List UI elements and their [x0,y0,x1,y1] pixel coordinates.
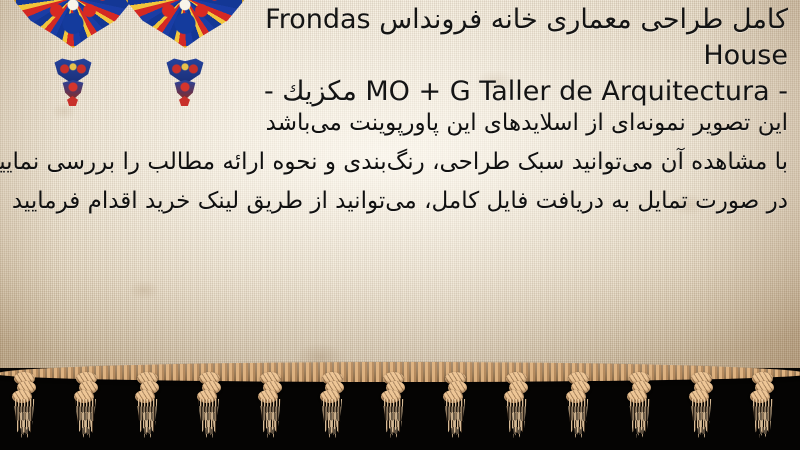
tassel [193,372,227,450]
tassel [377,372,411,450]
slide-canvas: کامل طراحی معماری خانه فرونداس Frondas H… [0,0,800,450]
tassel [685,372,719,450]
tassel [8,372,42,450]
slide-title: کامل طراحی معماری خانه فرونداس Frondas H… [188,2,788,110]
slide-body: این تصویر نمونه‌ای از اسلایدهای این پاور… [6,104,788,221]
slide-body-line-1: این تصویر نمونه‌ای از اسلایدهای این پاور… [6,104,788,143]
tassel [254,372,288,450]
tassel [623,372,657,450]
slide-body-line-3: در صورت تمایل به دریافت فایل کامل، می‌تو… [6,182,788,221]
tassel [562,372,596,450]
tassel [70,372,104,450]
tassel [746,372,780,450]
slide-body-line-2: با مشاهده آن می‌توانید سبک طراحی، رنگ‌بن… [6,143,788,182]
tassel [131,372,165,450]
tassel [500,372,534,450]
slide-title-line-1: کامل طراحی معماری خانه فرونداس Frondas H… [188,2,788,74]
tassel [439,372,473,450]
tassel [316,372,350,450]
